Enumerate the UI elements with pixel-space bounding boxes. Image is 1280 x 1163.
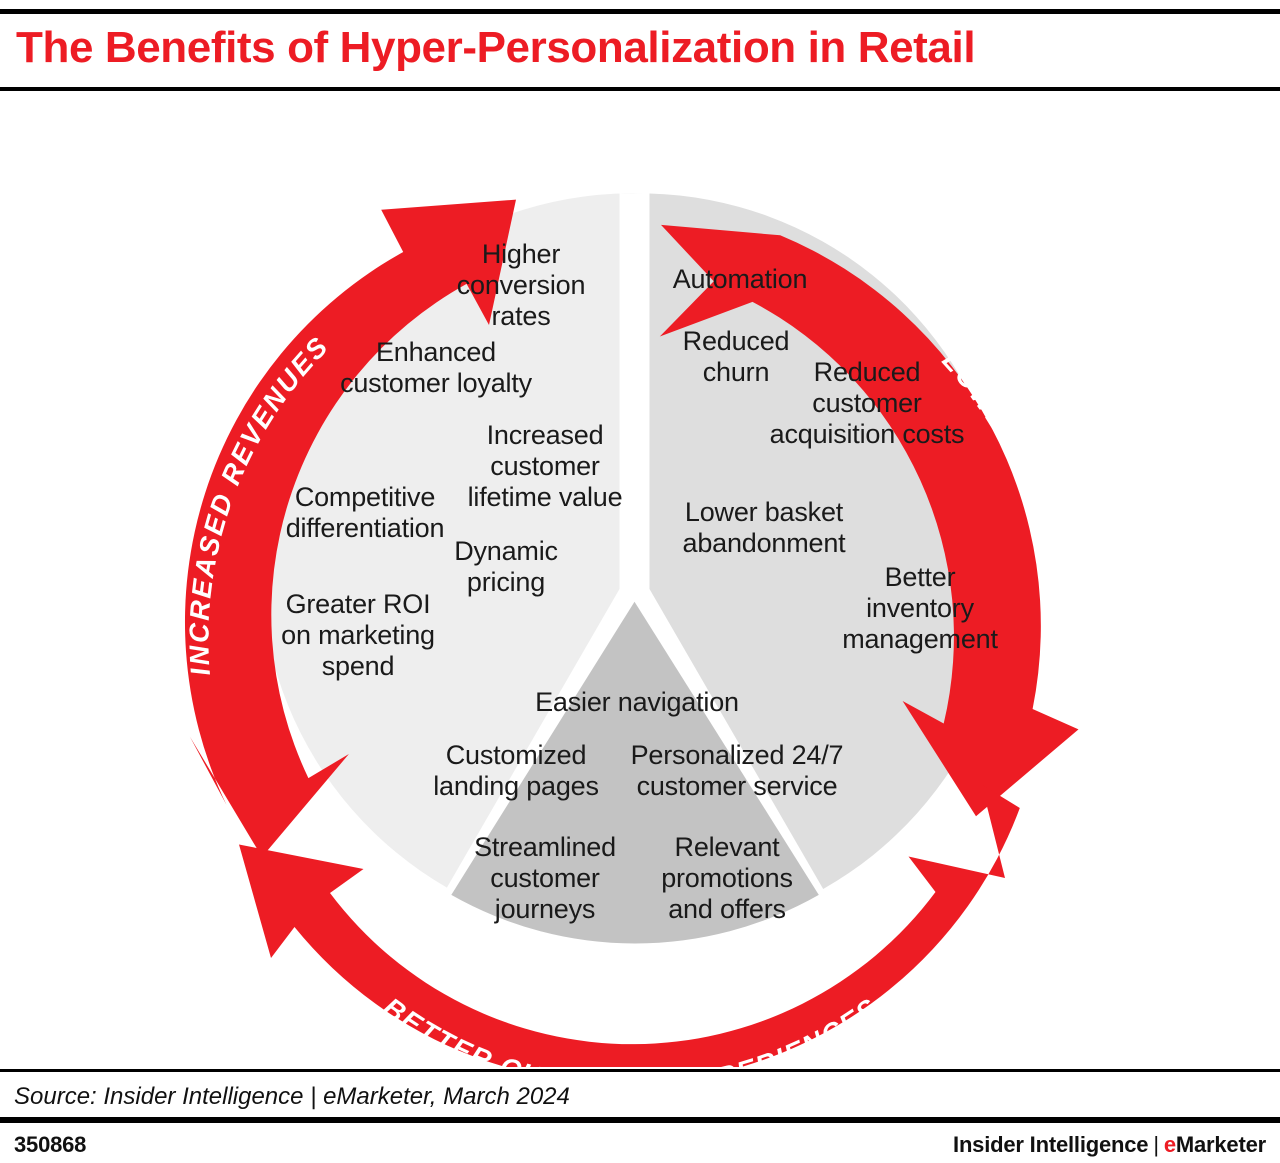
source-note: Source: Insider Intelligence | eMarketer… bbox=[14, 1083, 570, 1111]
benefit-item-easier-navigation: Easier navigation bbox=[505, 687, 769, 718]
benefit-item-enhanced-customer-loyalty: Enhanced customer loyalty bbox=[316, 337, 556, 399]
cycle-diagram: INCREASED REVENUES LOWER COSTS BETTER CU… bbox=[0, 92, 1280, 1067]
benefit-item-relevant-promotions-and-offers: Relevant promotions and offers bbox=[637, 832, 817, 925]
title-underline-rule bbox=[0, 87, 1280, 91]
benefit-item-greater-roi-on-marketing-spend: Greater ROI on marketing spend bbox=[258, 589, 458, 682]
benefit-item-customized-landing-pages: Customized landing pages bbox=[423, 740, 609, 802]
figure-number: 350868 bbox=[14, 1132, 86, 1158]
infographic-page: The Benefits of Hyper-Personalization in… bbox=[0, 0, 1280, 1163]
benefit-item-automation: Automation bbox=[650, 264, 830, 295]
top-rule bbox=[0, 9, 1280, 14]
benefit-item-better-inventory-management: Better inventory management bbox=[828, 562, 1012, 655]
benefit-item-higher-conversion-rates: Higher conversion rates bbox=[431, 239, 611, 332]
footer-top-rule bbox=[0, 1117, 1280, 1123]
page-title: The Benefits of Hyper-Personalization in… bbox=[16, 17, 975, 79]
source-top-rule bbox=[0, 1069, 1280, 1072]
benefit-item-lower-basket-abandonment: Lower basket abandonment bbox=[666, 497, 862, 559]
benefit-item-personalized-customer-service: Personalized 24/7 customer service bbox=[617, 740, 857, 802]
brand-emarketer-e: e bbox=[1164, 1132, 1176, 1157]
benefit-item-competitive-differentiation: Competitive differentiation bbox=[254, 482, 476, 544]
brand-lockup: Insider Intelligence|eMarketer bbox=[953, 1132, 1266, 1158]
brand-insider-intelligence: Insider Intelligence bbox=[953, 1132, 1148, 1157]
brand-emarketer-rest: Marketer bbox=[1176, 1132, 1266, 1157]
brand-separator: | bbox=[1148, 1132, 1164, 1157]
benefit-item-reduced-customer-acquisition-costs: Reduced customer acquisition costs bbox=[755, 357, 979, 450]
benefit-item-streamlined-customer-journeys: Streamlined customer journeys bbox=[455, 832, 635, 925]
